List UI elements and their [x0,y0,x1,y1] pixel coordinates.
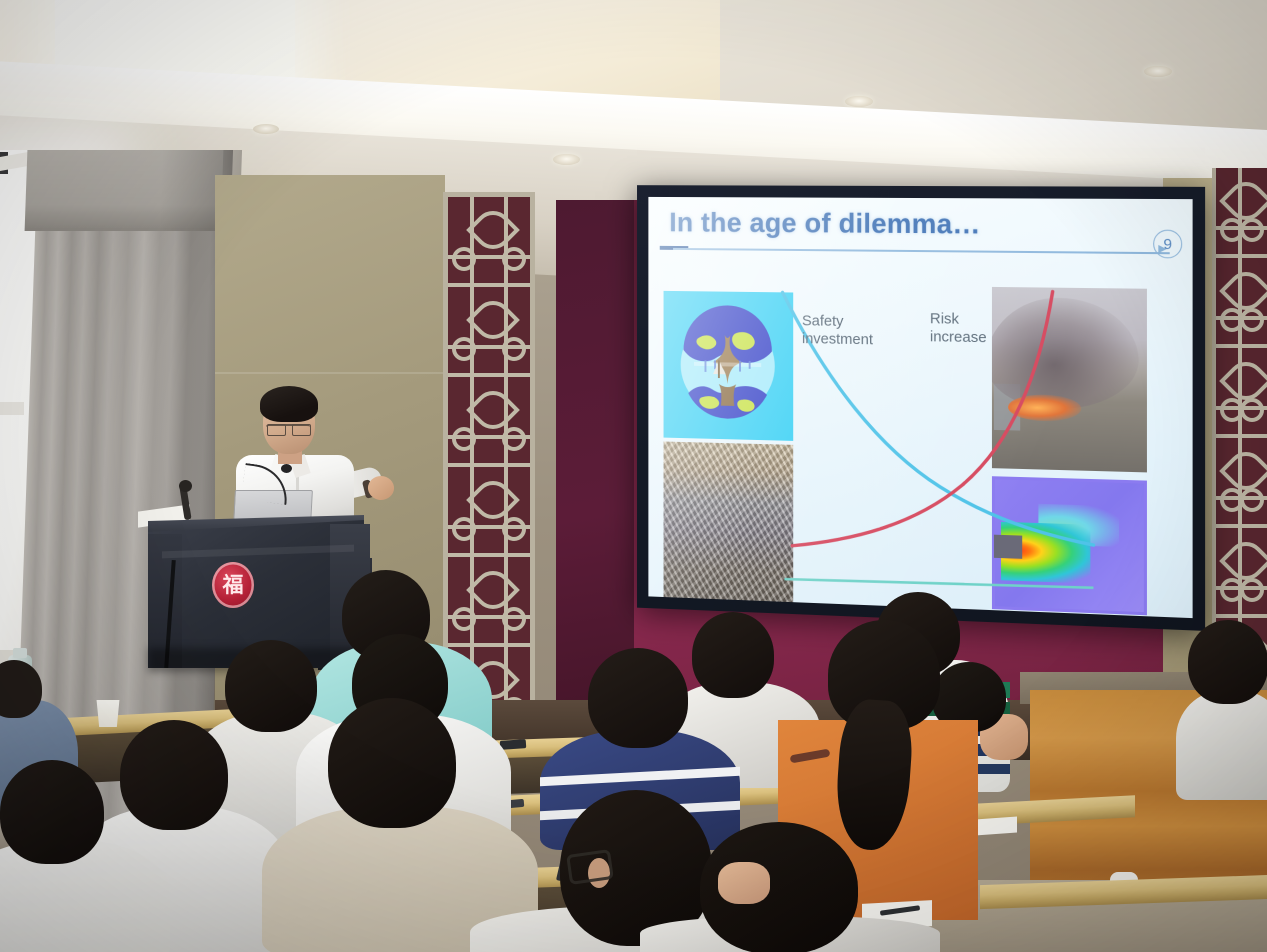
podium-seal-emblem: 福 [212,562,254,608]
notebook[interactable] [975,817,1017,836]
smartphone[interactable] [500,739,527,750]
curve-label-safety-line1: Safety [802,312,873,331]
pointer-knob[interactable] [179,480,192,492]
downlight-icon [253,124,279,134]
paper-cup[interactable] [95,700,121,727]
wall-panel-maroon-shadow [556,200,634,720]
curve-label-risk-line1: Risk [930,310,987,329]
slide-surface: In the age of dilemma… 9 [648,197,1192,618]
podium-seal-character: 福 [223,575,244,596]
decorative-lattice-panel-center [443,192,535,722]
audience-head [0,760,104,864]
audience-head [1188,620,1267,704]
curve-label-safety-line2: investment [802,330,873,349]
audience-member [1176,690,1267,800]
lecture-hall-photo: In the age of dilemma… 9 [0,0,1267,952]
curve-label-risk-line2: increase [930,328,987,347]
downlight-icon [553,154,580,165]
audience-head [225,640,317,732]
microphone-head-icon [281,464,292,473]
downlight-icon [1144,66,1172,77]
speaker-glasses-lens-left [267,424,286,436]
water-bottle-cap [13,648,27,658]
audience-head [588,648,688,748]
curve-baseline [784,576,1093,591]
audience-head [692,612,774,698]
curve-label-safety-investment: Safety investment [802,312,873,348]
speaker-hair [260,386,318,422]
window-mullion [0,402,24,415]
speaker-glasses-lens-right [292,424,311,436]
wall-seam [215,372,445,374]
audience-head [328,698,456,828]
projection-screen[interactable]: In the age of dilemma… 9 [637,185,1205,631]
audience-head [120,720,228,830]
dilemma-curves-chart [648,197,1192,618]
glasses-icon [566,849,614,885]
downlight-icon [845,96,873,107]
curve-label-risk-increase: Risk increase [930,310,987,346]
audience-hand [718,862,770,904]
